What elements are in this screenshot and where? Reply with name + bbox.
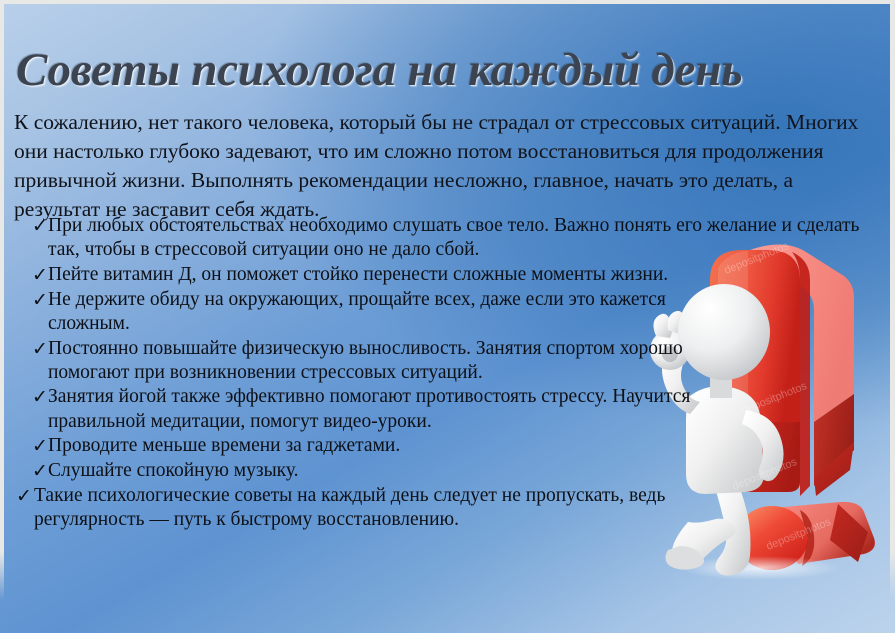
check-icon: ✓ <box>32 385 48 409</box>
frame-border-left <box>0 0 4 600</box>
check-icon: ✓ <box>32 434 48 458</box>
poster: depositphotos depositphotos depositphoto… <box>0 0 895 633</box>
list-item-text: Слушайте спокойную музыку. <box>48 459 748 483</box>
list-item: ✓ Слушайте спокойную музыку. <box>14 459 880 483</box>
list-item-text: Постоянно повышайте физическую выносливо… <box>48 337 688 385</box>
page-title: Советы психолога на каждый день <box>16 39 878 101</box>
list-item: ✓ Такие психологические советы на каждый… <box>14 484 880 532</box>
list-item-text: Проводите меньше времени за гаджетами. <box>48 434 748 458</box>
check-icon: ✓ <box>32 263 48 287</box>
list-item: ✓ Занятия йогой также эффективно помогаю… <box>14 385 880 433</box>
figure-ground-shadow <box>680 556 840 580</box>
list-item: ✓ Проводите меньше времени за гаджетами. <box>14 434 880 458</box>
list-item: ✓ Постоянно повышайте физическую выносли… <box>14 337 880 385</box>
check-icon: ✓ <box>32 288 48 312</box>
list-item-text: Такие психологические советы на каждый д… <box>34 484 734 532</box>
figure-foot <box>665 546 704 570</box>
list-item-text: Пейте витамин Д, он поможет стойко перен… <box>48 263 688 287</box>
list-item-text: Не держите обиду на окружающих, прощайте… <box>48 288 688 336</box>
check-icon: ✓ <box>16 484 32 508</box>
frame-border-right <box>890 0 895 600</box>
list-item-text: При любых обстоятельствах необходимо слу… <box>48 214 880 262</box>
list-item: ✓ Пейте витамин Д, он поможет стойко пер… <box>14 263 880 287</box>
intro-paragraph: К сожалению, нет такого человека, которы… <box>14 108 866 224</box>
check-icon: ✓ <box>32 337 48 361</box>
list-item: ✓ Не держите обиду на окружающих, прощай… <box>14 288 880 336</box>
list-item: ✓ При любых обстоятельствах необходимо с… <box>14 214 880 262</box>
check-icon: ✓ <box>32 459 48 483</box>
list-item-text: Занятия йогой также эффективно помогают … <box>48 385 748 433</box>
frame-border-top <box>0 0 895 4</box>
check-icon: ✓ <box>32 214 48 238</box>
tips-list: ✓ При любых обстоятельствах необходимо с… <box>14 214 880 533</box>
